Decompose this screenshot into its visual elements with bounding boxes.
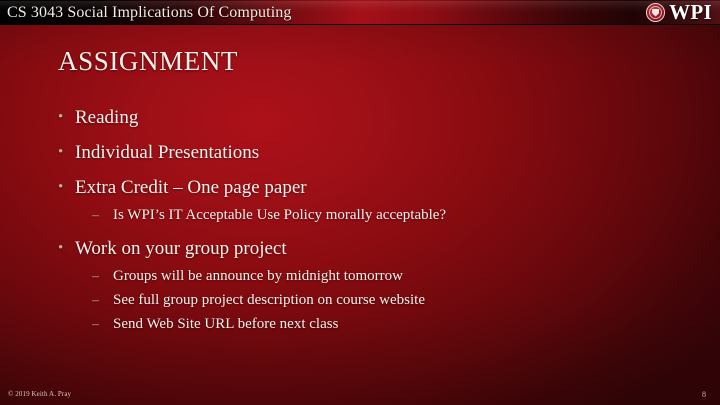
bullet-text: Work on your group project — [75, 238, 287, 259]
sub-bullet-item: – Send Web Site URL before next class — [90, 315, 700, 334]
slide-header-banner: CS 3043 Social Implications Of Computing… — [0, 0, 720, 25]
wpi-seal-icon — [646, 3, 665, 22]
sub-bullet-list: – Groups will be announce by midnight to… — [75, 267, 700, 334]
bullet-marker-icon: • — [58, 141, 63, 164]
slide-body: • Reading • Individual Presentations • E… — [56, 106, 700, 339]
wpi-shield-icon — [652, 9, 659, 17]
sub-bullet-item: – Groups will be announce by midnight to… — [90, 267, 700, 286]
bullet-marker-icon: • — [58, 237, 63, 260]
sub-bullet-marker-icon: – — [92, 267, 99, 286]
sub-bullet-text: Is WPI’s IT Acceptable Use Policy morall… — [113, 207, 446, 223]
bullet-marker-icon: • — [58, 106, 63, 129]
bullet-text: Reading — [75, 107, 138, 128]
wpi-wordmark: WPI — [669, 2, 712, 23]
bullet-item: • Extra Credit – One page paper – Is WPI… — [56, 176, 700, 225]
sub-bullet-marker-icon: – — [92, 291, 99, 310]
bullet-text: Extra Credit – One page paper — [75, 177, 307, 198]
bullet-marker-icon: • — [58, 176, 63, 199]
bullet-item: • Reading — [56, 106, 700, 129]
sub-bullet-item: – Is WPI’s IT Acceptable Use Policy mora… — [90, 206, 700, 225]
presentation-slide: CS 3043 Social Implications Of Computing… — [0, 0, 720, 405]
sub-bullet-text: Groups will be announce by midnight tomo… — [113, 268, 403, 284]
wpi-logo: WPI — [646, 0, 712, 25]
sub-bullet-text: Send Web Site URL before next class — [113, 316, 338, 332]
sub-bullet-marker-icon: – — [92, 206, 99, 225]
page-number: 8 — [702, 390, 706, 400]
slide-title: ASSIGNMENT — [58, 45, 238, 77]
sub-bullet-marker-icon: – — [92, 315, 99, 334]
copyright-notice: © 2019 Keith A. Pray — [8, 390, 71, 399]
course-title: CS 3043 Social Implications Of Computing — [7, 2, 291, 23]
sub-bullet-item: – See full group project description on … — [90, 291, 700, 310]
sub-bullet-list: – Is WPI’s IT Acceptable Use Policy mora… — [75, 206, 700, 225]
bullet-item: • Work on your group project – Groups wi… — [56, 237, 700, 334]
bullet-text: Individual Presentations — [75, 142, 259, 163]
sub-bullet-text: See full group project description on co… — [113, 292, 425, 308]
bullet-item: • Individual Presentations — [56, 141, 700, 164]
